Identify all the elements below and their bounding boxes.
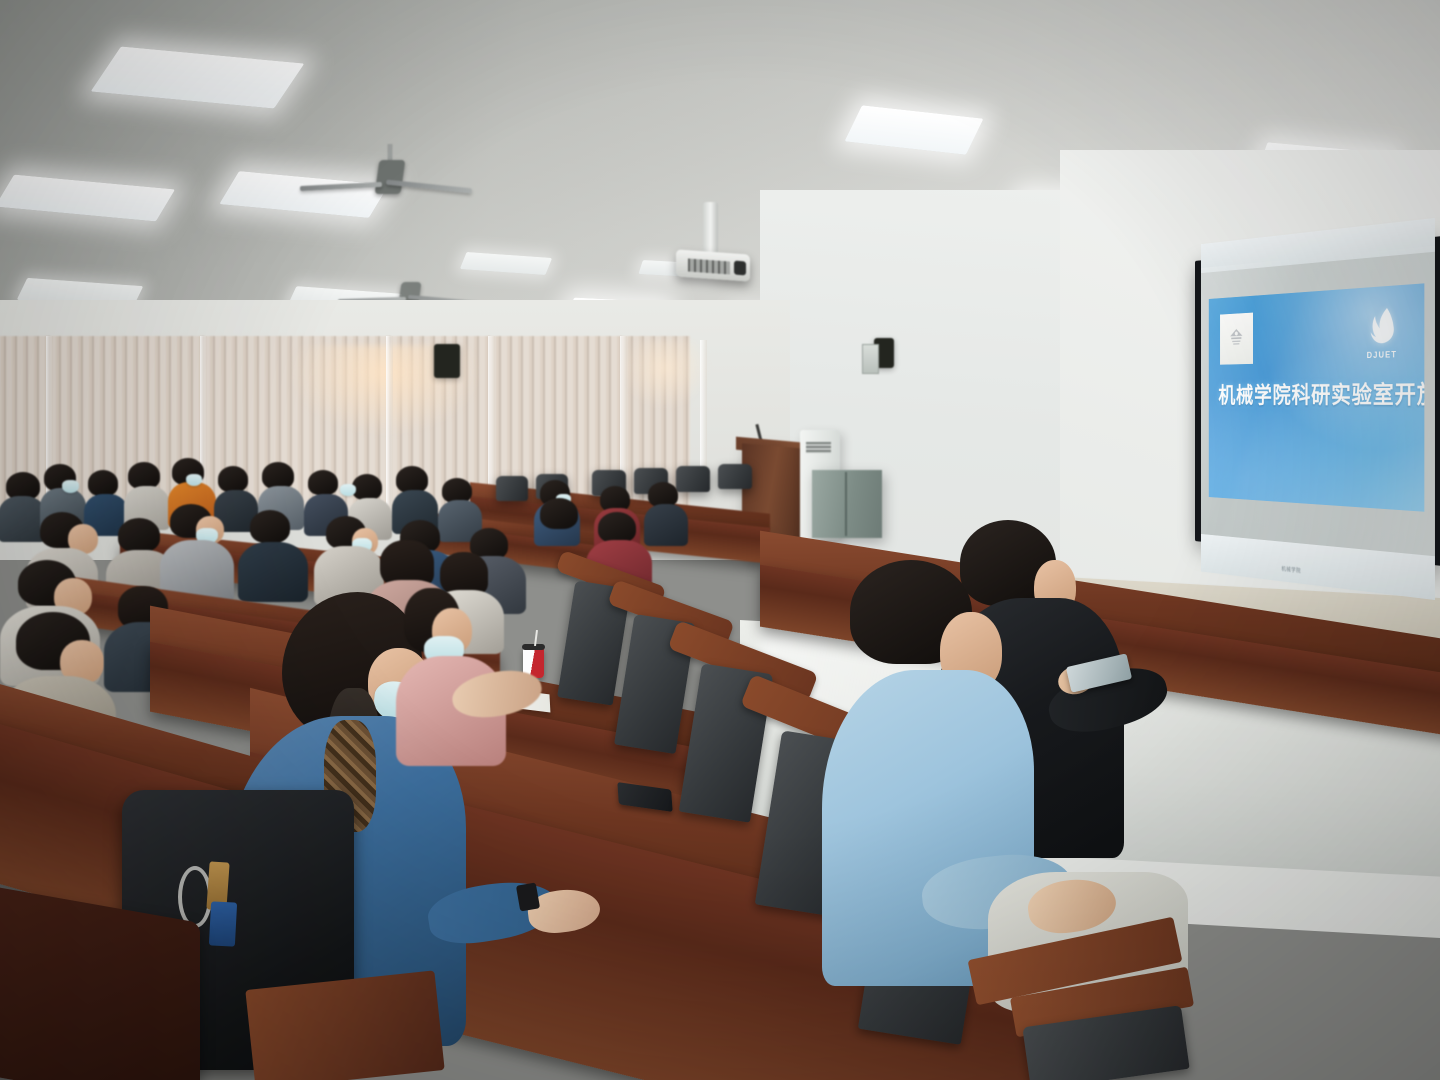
logo-text: DJUET: [1367, 350, 1397, 361]
university-crest-icon: [1220, 312, 1253, 364]
audience-member-head: [598, 512, 636, 543]
ceiling-fan: [320, 160, 460, 220]
cabinet-door-seam: [845, 472, 847, 536]
audience-member-head: [262, 462, 294, 489]
projected-slide: DJUET 机械学院科研实验室开放日: [1209, 284, 1424, 512]
audience-member-head: [250, 510, 290, 543]
fan-motor: [375, 160, 406, 194]
projection-screen: DJUET 机械学院科研实验室开放日 机械学院: [1195, 236, 1440, 566]
audience-member-torso: [644, 504, 688, 546]
audience-member-head: [396, 466, 428, 493]
face-mask: [340, 484, 356, 496]
projector-lens: [734, 261, 746, 276]
face-mask: [186, 474, 202, 486]
air-conditioner-grille: [806, 442, 831, 453]
institution-logo: DJUET: [1353, 291, 1412, 369]
audience-member-head: [118, 518, 160, 552]
audience-member-head: [352, 474, 382, 500]
audience-member-torso: [238, 542, 308, 602]
slide-title: 机械学院科研实验室开放日: [1218, 375, 1416, 410]
umbrella-body: [209, 901, 237, 946]
logo-glyph-icon: [1364, 301, 1400, 350]
wall-speaker: [434, 344, 460, 378]
empty-chair: [718, 464, 752, 489]
curtain-divider: [386, 336, 393, 526]
ceiling-projector: [676, 236, 750, 278]
wristwatch: [516, 882, 540, 911]
face-mask: [62, 480, 79, 493]
audience-member-head: [88, 470, 118, 496]
screen-surface: DJUET 机械学院科研实验室开放日 机械学院: [1201, 246, 1435, 556]
audience-member-head: [308, 470, 338, 495]
window-daylight: [620, 340, 710, 410]
empty-chair: [496, 476, 528, 501]
crest-glyph: [1226, 324, 1246, 354]
audience-member-head: [218, 466, 248, 492]
empty-chair: [676, 466, 710, 492]
chair-frame: [245, 970, 444, 1080]
audience-member-head: [540, 498, 578, 529]
audience-member-head: [128, 462, 160, 489]
lecture-hall-photo: DJUET 机械学院科研实验室开放日 机械学院: [0, 0, 1440, 1080]
metal-cabinet: [812, 470, 882, 538]
projector-mount: [703, 202, 718, 254]
wall-panel: [862, 344, 879, 374]
